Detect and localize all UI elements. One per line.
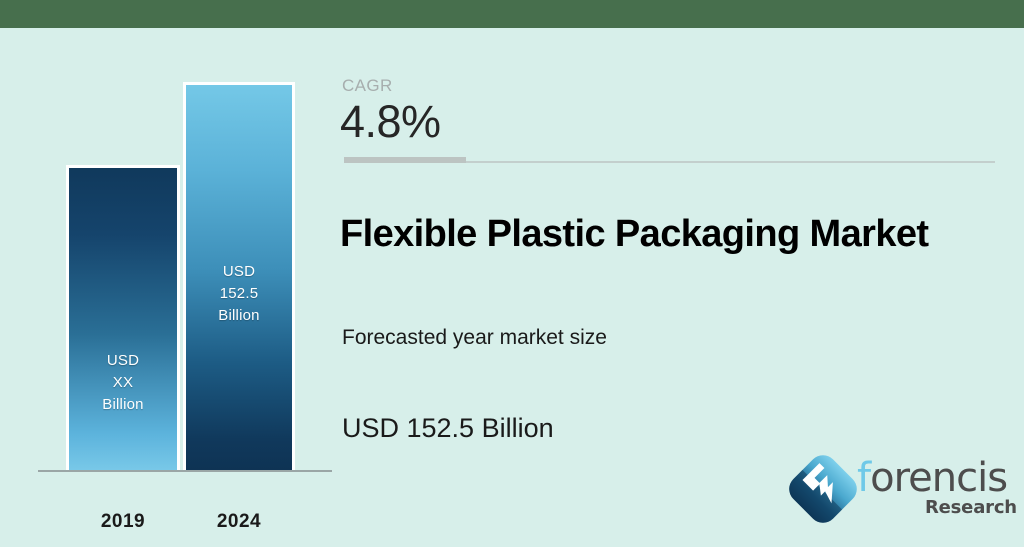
- forencis-wordmark-rest: orencis: [870, 455, 1007, 501]
- subtitle-text: Forecasted year market size: [342, 326, 607, 350]
- plot-area: USD XX Billion USD 152.5 Billion: [0, 28, 336, 498]
- forencis-wordmark: forencis: [857, 455, 1007, 501]
- bar-2019-label-line1: USD: [69, 350, 177, 372]
- x-axis-tick-2019: 2019: [63, 511, 183, 533]
- bar-2019-label-line2: XX: [69, 372, 177, 394]
- top-green-band: [0, 0, 1024, 28]
- forencis-wordmark-lead: f: [857, 455, 870, 501]
- bar-chart-panel: USD XX Billion USD 152.5 Billion 2019 20…: [0, 28, 336, 547]
- market-value-text: USD 152.5 Billion: [342, 413, 554, 444]
- cagr-label: CAGR: [342, 76, 393, 96]
- bar-2019-label: USD XX Billion: [69, 350, 177, 417]
- bar-2024-label-line3: Billion: [186, 305, 292, 327]
- bar-2024-label-line2: 152.5: [186, 283, 292, 305]
- x-axis-line: [38, 470, 332, 472]
- cagr-value: 4.8%: [340, 96, 441, 148]
- infographic-canvas: USD XX Billion USD 152.5 Billion 2019 20…: [0, 0, 1024, 547]
- bar-2024-label-line1: USD: [186, 261, 292, 283]
- divider-accent-segment: [344, 157, 466, 163]
- bar-2024: USD 152.5 Billion: [183, 82, 295, 470]
- bar-2024-label: USD 152.5 Billion: [186, 261, 292, 328]
- page-title: Flexible Plastic Packaging Market: [340, 213, 928, 256]
- bar-2019: USD XX Billion: [66, 165, 180, 470]
- x-axis-tick-2024: 2024: [179, 511, 299, 533]
- forencis-wordmark-sub: Research: [925, 497, 1017, 518]
- x-axis-labels: 2019 2024: [0, 498, 336, 547]
- info-panel: CAGR 4.8% Flexible Plastic Packaging Mar…: [340, 28, 1024, 547]
- bar-2019-label-line3: Billion: [69, 394, 177, 416]
- forencis-logo: forencis Research: [795, 451, 1020, 533]
